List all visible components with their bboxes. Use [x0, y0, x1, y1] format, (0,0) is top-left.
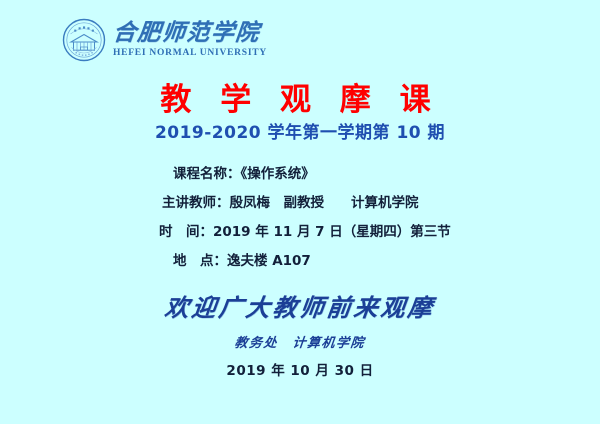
signature-date: 2019 年 10 月 30 日: [200, 359, 400, 379]
teaching-observation-notice-poster: 合肥师范学院 HEFEI NORMAL UNIVERSITY 教 学 观 摩 课…: [0, 0, 600, 424]
signature-organizations: 教务处 计算机学院: [199, 332, 401, 351]
university-wordmark: 合肥师范学院 HEFEI NORMAL UNIVERSITY: [113, 21, 267, 59]
detail-row-location: 地 点：逸夫楼 A107: [167, 249, 433, 269]
detail-row-lecturer: 主讲教师：殷凤梅 副教授 计算机学院: [162, 191, 438, 211]
term-subtitle: 2019-2020 学年第一学期第 10 期: [0, 118, 600, 143]
detail-row-course: 课程名称：《操作系统》: [167, 162, 433, 182]
letterhead: 合肥师范学院 HEFEI NORMAL UNIVERSITY: [62, 18, 267, 62]
signature-block: 教务处 计算机学院 2019 年 10 月 30 日: [0, 332, 600, 379]
university-name-en: HEFEI NORMAL UNIVERSITY: [113, 49, 267, 59]
welcome-message: 欢迎广大教师前来观摩: [0, 288, 600, 323]
page-title: 教 学 观 摩 课: [0, 74, 600, 119]
details-block: 课程名称：《操作系统》 主讲教师：殷凤梅 副教授 计算机学院 时 间：2019 …: [0, 162, 600, 278]
university-name-cn: 合肥师范学院: [112, 21, 261, 44]
detail-row-time: 时 间：2019 年 11 月 7 日（星期四）第三节: [159, 220, 441, 240]
university-seal-icon: [62, 18, 106, 62]
